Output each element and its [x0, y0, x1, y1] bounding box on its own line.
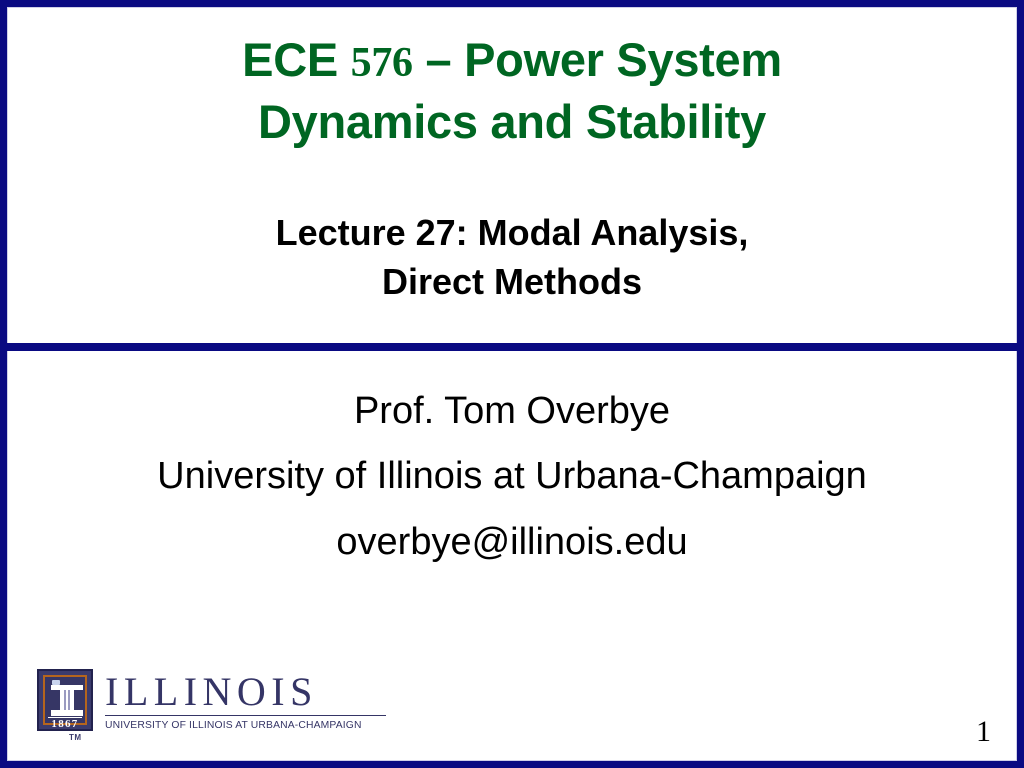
course-number: 576: [351, 40, 413, 86]
illinois-shield-icon: 1867: [37, 669, 93, 731]
illinois-wordmark: ILLINOIS UNIVERSITY OF ILLINOIS AT URBAN…: [105, 671, 387, 731]
presentation-slide: ECE 576 – Power System Dynamics and Stab…: [0, 0, 1024, 768]
shield-background: 1867: [37, 669, 93, 731]
presenter-name: Prof. Tom Overbye: [14, 379, 1010, 444]
column-shaft-icon: [60, 690, 74, 710]
wordmark-text: ILLINOIS: [105, 671, 387, 713]
trademark-mark: TM: [69, 733, 82, 742]
affiliation: University of Illinois at Urbana-Champai…: [14, 444, 1010, 509]
slide-main-title: ECE 576 – Power System: [14, 29, 1010, 91]
title-block: ECE 576 – Power System Dynamics and Stab…: [14, 29, 1010, 307]
page-number: 1: [976, 717, 991, 747]
main-title-suffix: – Power System: [413, 33, 782, 86]
slide-subtitle-line2: Direct Methods: [14, 258, 1010, 307]
horizontal-divider: [7, 343, 1019, 351]
slide-main-title-line2: Dynamics and Stability: [14, 91, 1010, 153]
illinois-logo: 1867 TM ILLINOIS UNIVERSITY OF ILLINOIS …: [37, 669, 387, 747]
wordmark-rule: [105, 715, 386, 716]
author-block: Prof. Tom Overbye University of Illinois…: [14, 379, 1010, 575]
column-base-icon: [51, 710, 83, 716]
wordmark-tagline: UNIVERSITY OF ILLINOIS AT URBANA-CHAMPAI…: [105, 719, 383, 731]
main-title-prefix: ECE: [242, 33, 351, 86]
slide-subtitle-line1: Lecture 27: Modal Analysis,: [14, 153, 1010, 258]
shield-founding-year: 1867: [39, 718, 91, 730]
email-address: overbye@illinois.edu: [14, 510, 1010, 575]
